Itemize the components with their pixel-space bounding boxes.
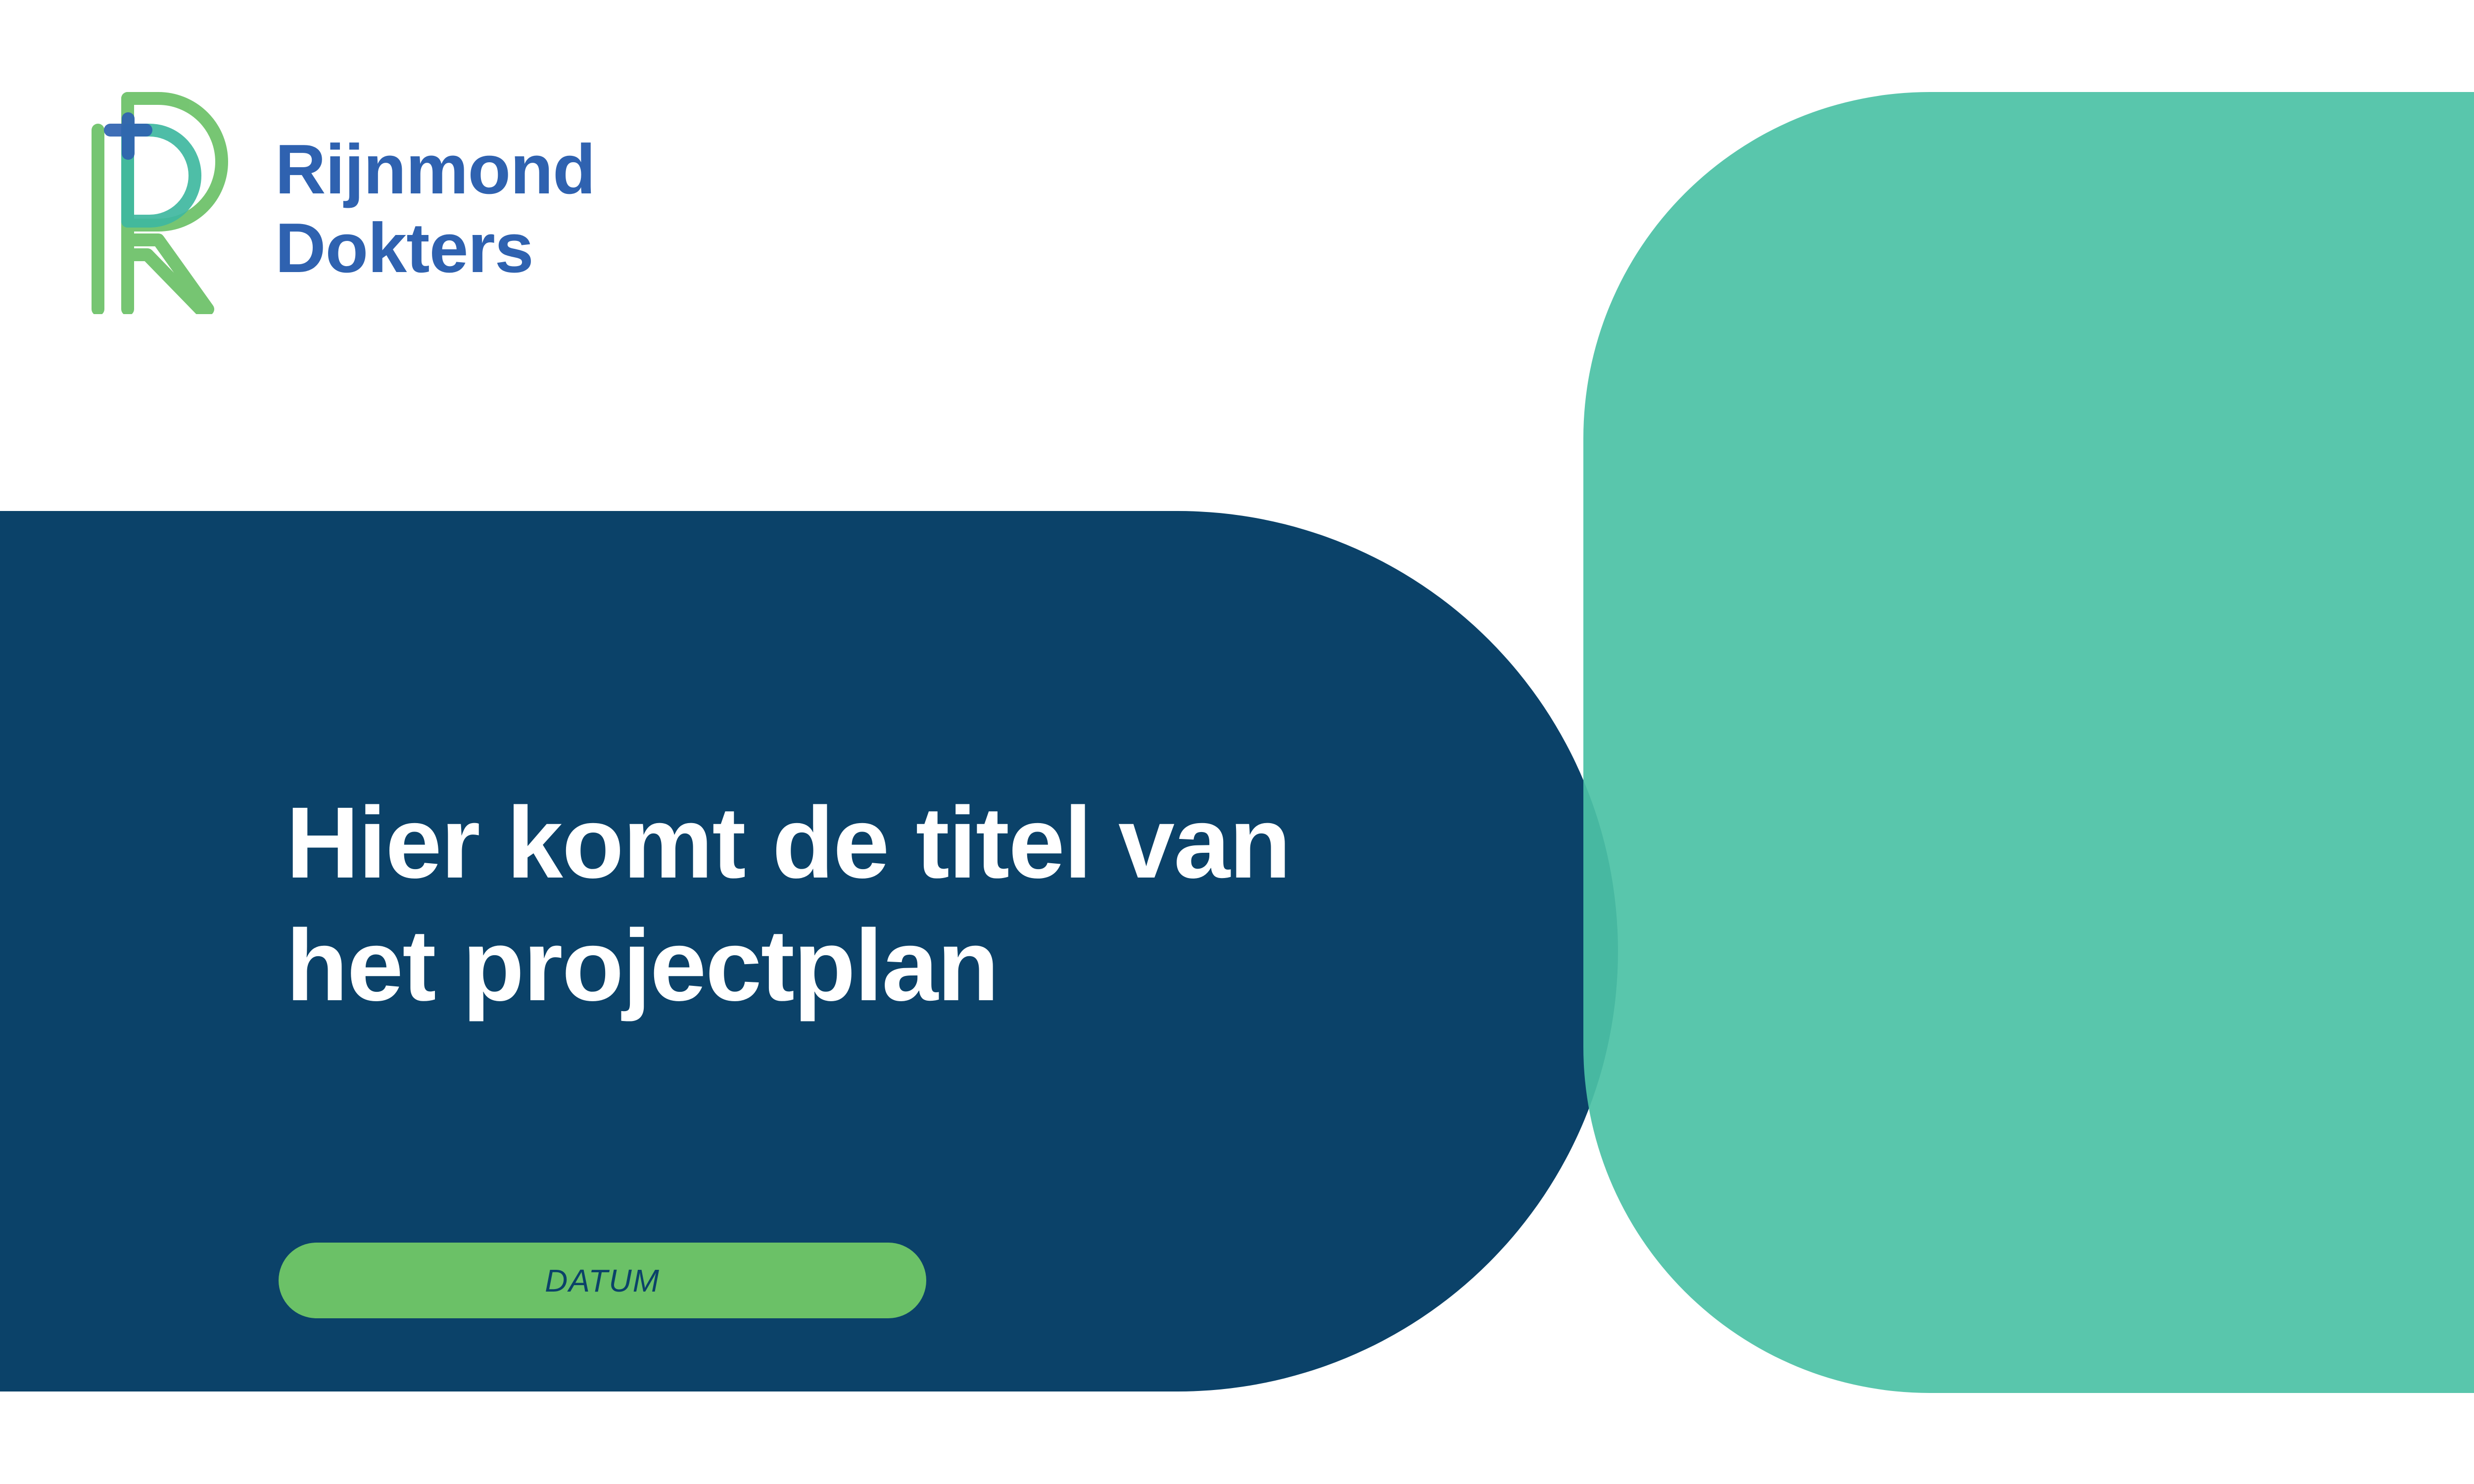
teal-rounded-panel [1583,92,2474,1393]
brand-wordmark: Rijnmond Dokters [275,130,595,287]
title-block: Hier komt de titel van het projectplan [286,782,1513,1027]
title-slide: Rijnmond Dokters Hier komt de titel van … [0,0,2474,1484]
brand-wordmark-line-2: Dokters [275,209,595,287]
date-field[interactable]: DATUM [279,1243,926,1318]
brand-wordmark-line-1: Rijnmond [275,130,595,209]
rijnmond-dokters-r-monogram-icon [84,92,233,314]
page-title: Hier komt de titel van het projectplan [286,782,1513,1027]
date-field-label: DATUM [545,1262,660,1299]
page-title-line-2: het projectplan [286,909,998,1022]
brand-logo[interactable]: Rijnmond Dokters [84,92,595,314]
page-title-line-1: Hier komt de titel van [286,786,1290,899]
